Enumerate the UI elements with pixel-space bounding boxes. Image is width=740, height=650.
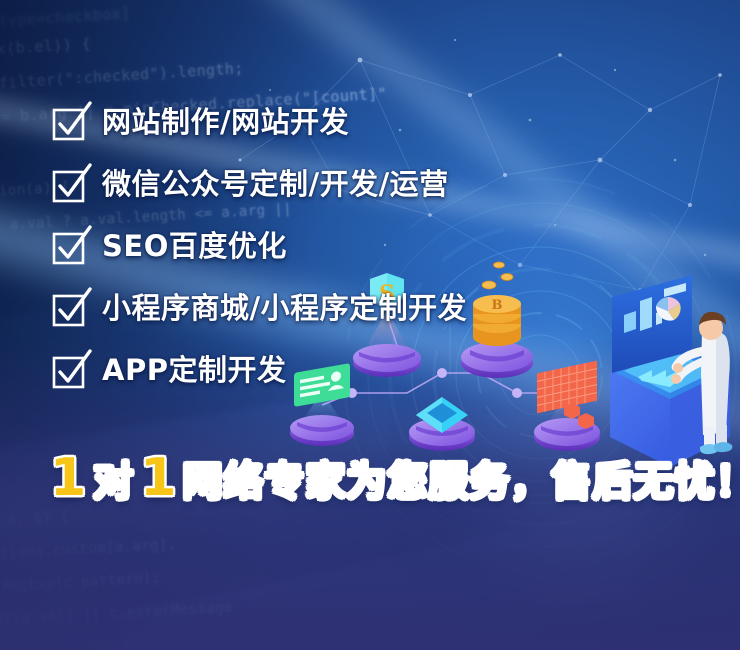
checkbox-checked-icon — [52, 292, 84, 324]
feature-label: SEO百度优化 — [102, 232, 287, 261]
feature-item-miniapp[interactable]: 小程序商城/小程序定制开发 — [52, 284, 467, 332]
headline-middle-word: 对 — [93, 462, 133, 502]
headline-number-second: 1 — [140, 452, 176, 504]
feature-item-seo[interactable]: SEO百度优化 — [52, 222, 467, 270]
service-feature-list: 网站制作/网站开发 微信公众号定制/开发/运营 — [52, 98, 467, 408]
checkbox-checked-icon — [52, 230, 84, 262]
promo-headline: 1 对 1 网络专家为您服务，售后无忧！ — [50, 452, 740, 504]
checkbox-checked-icon — [52, 354, 84, 386]
feature-item-website[interactable]: 网站制作/网站开发 — [52, 98, 467, 146]
checkbox-checked-icon — [52, 106, 84, 138]
headline-tagline: 网络专家为您服务，售后无忧！ — [182, 462, 740, 502]
promo-banner: input[type=checkbox] d.index(b.el)) { e … — [0, 0, 740, 650]
headline-number-first: 1 — [50, 452, 86, 504]
feature-item-app[interactable]: APP定制开发 — [52, 346, 467, 394]
feature-item-wechat[interactable]: 微信公众号定制/开发/运营 — [52, 160, 467, 208]
feature-label: 网站制作/网站开发 — [102, 108, 349, 137]
feature-label: 微信公众号定制/开发/运营 — [102, 170, 449, 199]
checkbox-checked-icon — [52, 168, 84, 200]
feature-label: 小程序商城/小程序定制开发 — [102, 294, 467, 323]
feature-label: APP定制开发 — [102, 356, 286, 385]
